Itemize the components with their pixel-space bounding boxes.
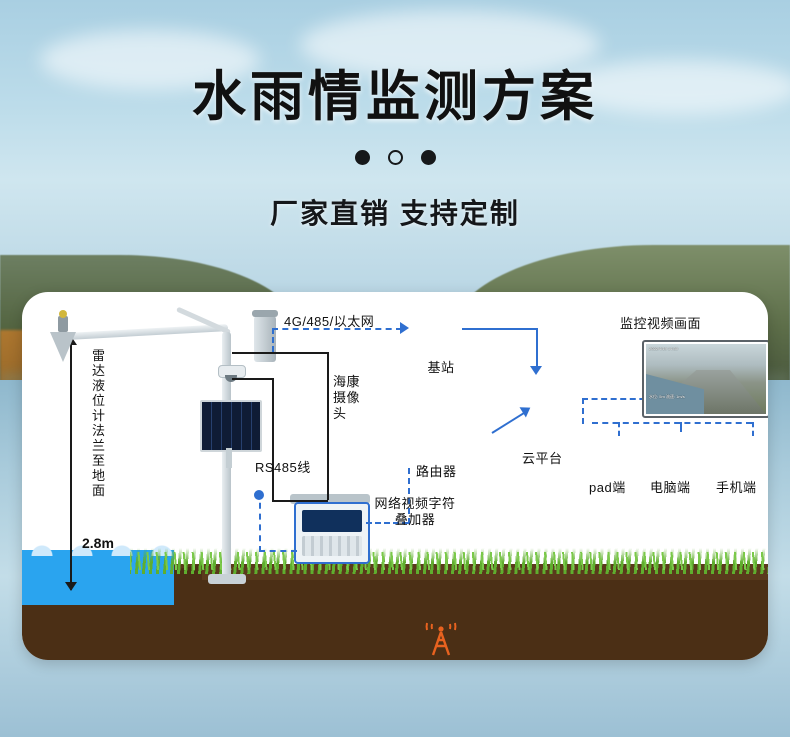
video-monitor-frame: 2022/4/19 14:30 水位: 5m 流速: 1m/s xyxy=(642,340,768,418)
diagram-panel: 雷达液位计法兰至地面 2.8m xyxy=(22,292,768,660)
arrow-to-cloud xyxy=(530,366,542,375)
label-rs485: RS485线 xyxy=(255,460,311,476)
wire-rs485-vertical xyxy=(272,378,274,500)
page-title: 水雨情监测方案 xyxy=(0,52,790,131)
wire-camera-horizontal xyxy=(232,352,329,354)
mast-base xyxy=(208,574,246,584)
label-4g-link: 4G/485/以太网 xyxy=(284,314,374,330)
page-subtitle: 厂家直销 支持定制 xyxy=(0,192,790,232)
dash-cloud-monitor-riser xyxy=(582,398,584,424)
label-monitor-title: 监控视频画面 xyxy=(620,316,701,332)
cantilever-arm xyxy=(70,324,228,340)
dot-1 xyxy=(355,150,370,165)
label-pad: pad端 xyxy=(589,480,626,496)
dot-3 xyxy=(421,150,436,165)
dash-mast-uplink xyxy=(272,328,274,352)
video-osd-readings: 水位: 5m 流速: 1m/s xyxy=(649,394,685,399)
video-monitor-image: 2022/4/19 14:30 水位: 5m 流速: 1m/s xyxy=(646,344,766,414)
wire-camera-vertical xyxy=(327,352,329,500)
link-router-to-cloud xyxy=(491,411,526,434)
link-base-to-cloud xyxy=(462,328,538,330)
label-router: 路由器 xyxy=(416,464,457,480)
label-pc: 电脑端 xyxy=(650,480,691,496)
wire-cabinet-top xyxy=(272,500,328,502)
dash-terminal-pad xyxy=(618,422,620,436)
label-phone: 手机端 xyxy=(716,480,757,496)
label-base-station: 基站 xyxy=(414,360,468,376)
measure-arrow-line xyxy=(70,342,72,590)
radar-level-sensor xyxy=(50,332,76,362)
measure-label: 雷达液位计法兰至地面 xyxy=(86,348,112,498)
controller-screen xyxy=(302,510,362,532)
controller-cabinet xyxy=(294,502,370,564)
wire-rs485-horizontal xyxy=(232,378,274,380)
base-station-icon xyxy=(419,622,463,656)
solar-panel xyxy=(200,400,262,452)
solar-panel-stand xyxy=(226,448,232,468)
link-base-to-cloud-drop xyxy=(536,328,538,370)
radar-sensor-body xyxy=(58,316,68,332)
dash-terminal-phone xyxy=(752,422,754,436)
dot-decoration xyxy=(0,150,790,165)
label-cloud-platform: 云平台 xyxy=(522,451,563,467)
measure-value: 2.8m xyxy=(82,535,114,551)
label-video-overlay: 网络视频字符叠加器 xyxy=(371,496,459,528)
dash-terminal-bus xyxy=(592,422,752,424)
dash-terminal-pc xyxy=(680,422,682,432)
arrow-to-base-station xyxy=(400,322,409,334)
label-camera: 海康摄像头 xyxy=(333,374,361,422)
dash-cabinet-signal xyxy=(259,492,261,552)
video-osd-timestamp: 2022/4/19 14:30 xyxy=(649,346,678,351)
measure-arrow-down xyxy=(65,582,77,591)
controller-terminals xyxy=(302,536,362,556)
rain-gauge-cap xyxy=(252,310,278,317)
radar-sensor-tip xyxy=(59,310,67,318)
dot-2 xyxy=(388,150,403,165)
dash-to-cabinet xyxy=(259,550,297,552)
